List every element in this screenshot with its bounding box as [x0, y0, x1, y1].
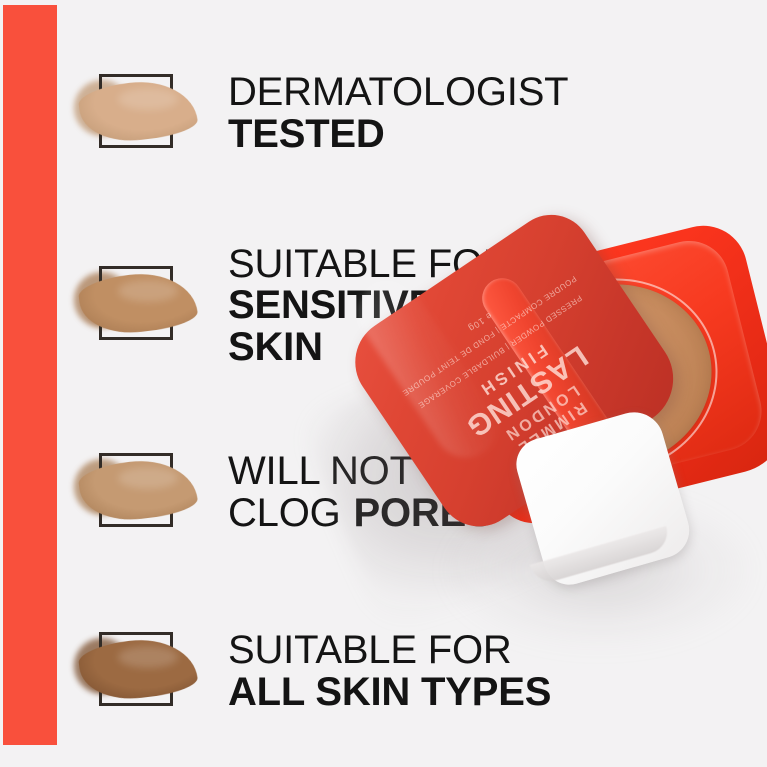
product-photo: RIMMEL LONDON LASTING FINISH PRESSED POW… [300, 245, 767, 645]
claim-line-text: TESTED [228, 112, 385, 156]
powder-sheen-icon [118, 646, 178, 668]
checkbox-swatch-medium-tan [84, 441, 204, 545]
checkbox-swatch-light [84, 62, 204, 166]
claim-text-dermatologist-tested: DERMATOLOGIST TESTED [228, 72, 568, 155]
powder-sheen-icon [118, 280, 178, 302]
checkbox-swatch-deep [84, 620, 204, 724]
claim-row-dermatologist-tested: DERMATOLOGIST TESTED [84, 58, 704, 170]
left-red-accent-bar [3, 5, 57, 745]
claim-line-text: ALL SKIN TYPES [228, 670, 551, 714]
claim-line-text: DERMATOLOGIST [228, 70, 568, 114]
powder-sheen-icon [118, 88, 178, 110]
product-benefits-infographic: DERMATOLOGIST TESTED SUITABLE FOR SENSIT… [0, 0, 767, 767]
powder-sheen-icon [118, 467, 178, 489]
checkbox-swatch-medium [84, 254, 204, 358]
